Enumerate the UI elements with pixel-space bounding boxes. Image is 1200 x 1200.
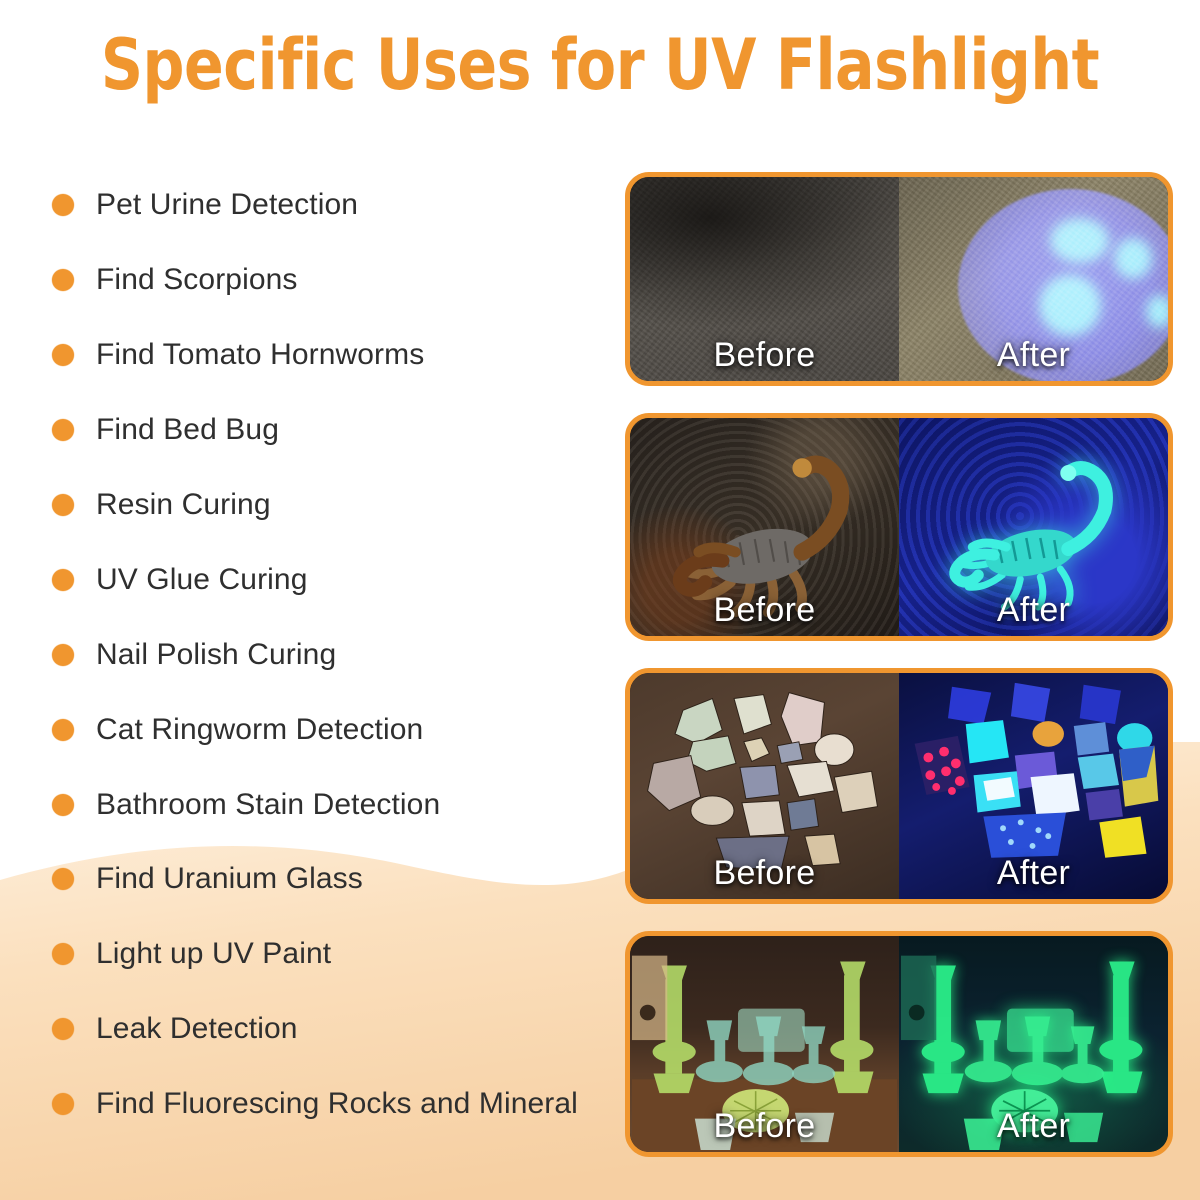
after-image-carpet-uv: After	[899, 177, 1168, 381]
list-item[interactable]: Find Fluorescing Rocks and Mineral	[52, 1067, 612, 1142]
before-label: Before	[630, 336, 899, 375]
bullet-icon	[52, 419, 74, 441]
urine-stain-glow	[1039, 275, 1101, 336]
list-item-label: Nail Polish Curing	[96, 638, 336, 672]
list-item-label: Find Uranium Glass	[96, 862, 363, 896]
bullet-icon	[52, 569, 74, 591]
page-title: Specific Uses for UV Flashlight	[42, 26, 1158, 104]
list-item[interactable]: Find Tomato Hornworms	[52, 318, 612, 393]
list-item[interactable]: Nail Polish Curing	[52, 617, 612, 692]
urine-stain-glow	[1146, 295, 1168, 328]
before-image-uranium-glass: Before	[630, 936, 899, 1152]
before-image-carpet: Before	[630, 177, 899, 381]
uv-flashlight-uses-infographic: Specific Uses for UV Flashlight Pet Urin…	[0, 0, 1200, 1200]
bullet-icon	[52, 269, 74, 291]
urine-stain-glow	[1050, 218, 1109, 263]
uses-list: Pet Urine Detection Find Scorpions Find …	[52, 168, 612, 1142]
comparison-panel-scorpion[interactable]: Before	[625, 413, 1173, 641]
before-label: Before	[630, 854, 899, 893]
list-item-label: UV Glue Curing	[96, 563, 308, 597]
list-item-label: Pet Urine Detection	[96, 188, 358, 222]
bullet-icon	[52, 794, 74, 816]
list-item-label: Light up UV Paint	[96, 937, 331, 971]
list-item-label: Resin Curing	[96, 488, 271, 522]
after-label: After	[899, 591, 1168, 630]
list-item[interactable]: UV Glue Curing	[52, 542, 612, 617]
list-item-label: Cat Ringworm Detection	[96, 713, 423, 747]
urine-stain-glow	[1114, 238, 1152, 279]
list-item-label: Find Scorpions	[96, 263, 298, 297]
after-label: After	[899, 336, 1168, 375]
before-image-scorpion: Before	[630, 418, 899, 636]
comparison-panel-pet-urine[interactable]: Before After	[625, 172, 1173, 386]
before-image-rocks: Before	[630, 673, 899, 899]
before-label: Before	[630, 1107, 899, 1146]
bullet-icon	[52, 194, 74, 216]
list-item[interactable]: Cat Ringworm Detection	[52, 692, 612, 767]
list-item-label: Find Fluorescing Rocks and Mineral	[96, 1087, 578, 1121]
list-item[interactable]: Leak Detection	[52, 992, 612, 1067]
list-item-label: Find Tomato Hornworms	[96, 338, 424, 372]
bullet-icon	[52, 719, 74, 741]
bullet-icon	[52, 644, 74, 666]
list-item-label: Leak Detection	[96, 1012, 298, 1046]
after-label: After	[899, 1107, 1168, 1146]
bullet-icon	[52, 344, 74, 366]
bullet-icon	[52, 1018, 74, 1040]
bullet-icon	[52, 1093, 74, 1115]
before-label: Before	[630, 591, 899, 630]
after-image-scorpion-uv: After	[899, 418, 1168, 636]
bullet-icon	[52, 494, 74, 516]
comparison-panel-uranium-glass[interactable]: Before	[625, 931, 1173, 1157]
list-item[interactable]: Light up UV Paint	[52, 917, 612, 992]
after-image-uranium-glass-uv: After	[899, 936, 1168, 1152]
list-item[interactable]: Pet Urine Detection	[52, 168, 612, 243]
comparison-panel-rocks[interactable]: Before	[625, 668, 1173, 904]
after-label: After	[899, 854, 1168, 893]
list-item[interactable]: Resin Curing	[52, 468, 612, 543]
bullet-icon	[52, 943, 74, 965]
list-item[interactable]: Bathroom Stain Detection	[52, 767, 612, 842]
list-item-label: Find Bed Bug	[96, 413, 279, 447]
list-item-label: Bathroom Stain Detection	[96, 788, 440, 822]
after-image-rocks-uv: After	[899, 673, 1168, 899]
bullet-icon	[52, 868, 74, 890]
comparison-panels: Before After	[625, 172, 1173, 1157]
list-item[interactable]: Find Bed Bug	[52, 393, 612, 468]
list-item[interactable]: Find Scorpions	[52, 243, 612, 318]
list-item[interactable]: Find Uranium Glass	[52, 842, 612, 917]
